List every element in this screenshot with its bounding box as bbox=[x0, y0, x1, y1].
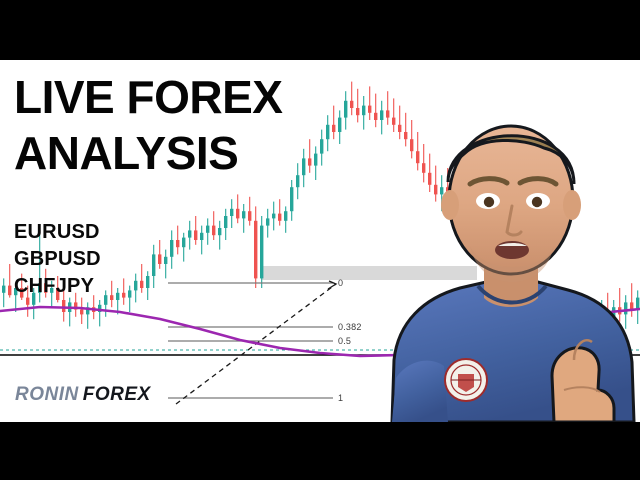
fib-label-1: 1 bbox=[338, 393, 343, 403]
pair-chfjpy: CHFJPY bbox=[14, 273, 101, 300]
candle-body bbox=[110, 295, 113, 300]
candle-body bbox=[476, 221, 479, 231]
candle-body bbox=[344, 101, 347, 118]
supply-zone bbox=[262, 266, 477, 280]
candle-body bbox=[636, 298, 639, 310]
moving-average-line bbox=[0, 307, 640, 356]
candle-body bbox=[146, 276, 149, 288]
candle-body bbox=[296, 175, 299, 187]
pair-gbpusd: GBPUSD bbox=[14, 246, 101, 273]
candle-body bbox=[116, 293, 119, 300]
logo-word-forex: FOREX bbox=[83, 384, 151, 405]
video-canvas: 00.3820.50.6181 LIVE FOREX ANALYSIS EURU… bbox=[0, 60, 640, 422]
candle-body bbox=[206, 226, 209, 233]
candle-body bbox=[452, 197, 455, 209]
candle-body bbox=[440, 187, 443, 194]
candle-body bbox=[374, 113, 377, 120]
candle-body bbox=[488, 223, 491, 233]
candle-body bbox=[404, 132, 407, 139]
candle-body bbox=[194, 230, 197, 240]
ronin-forex-logo: RONINFOREX bbox=[15, 384, 151, 406]
candle-body bbox=[624, 302, 627, 314]
candle-body bbox=[260, 226, 263, 279]
candle-body bbox=[320, 139, 323, 153]
candle-body bbox=[446, 187, 449, 197]
candle-body bbox=[302, 158, 305, 175]
fib-label-0-5: 0.5 bbox=[338, 336, 351, 346]
candle-body bbox=[200, 233, 203, 240]
candle-body bbox=[158, 254, 161, 264]
candle-body bbox=[284, 211, 287, 221]
candle-body bbox=[362, 106, 365, 116]
candle-body bbox=[464, 202, 467, 212]
candle-body bbox=[368, 106, 371, 113]
candle-body bbox=[326, 125, 329, 139]
candle-body bbox=[380, 110, 383, 120]
candle-body bbox=[386, 110, 389, 117]
trendline-arrow bbox=[328, 281, 336, 289]
candle-body bbox=[80, 310, 83, 315]
candle-body bbox=[104, 295, 107, 305]
title-line-2: ANALYSIS bbox=[14, 125, 282, 181]
candle-body bbox=[230, 209, 233, 216]
candle-body bbox=[170, 240, 173, 257]
fib-label-0-382: 0.382 bbox=[338, 322, 362, 332]
candle-body bbox=[272, 214, 275, 219]
candle-body bbox=[416, 151, 419, 163]
letterbox-bottom bbox=[0, 422, 640, 480]
candle-body bbox=[140, 281, 143, 288]
candle-body bbox=[314, 154, 317, 166]
logo-word-ronin: RONIN bbox=[15, 384, 79, 405]
candle-body bbox=[212, 226, 215, 236]
video-frame: 00.3820.50.6181 LIVE FOREX ANALYSIS EURU… bbox=[0, 0, 640, 480]
title-line-1: LIVE FOREX bbox=[14, 69, 282, 125]
candle-body bbox=[428, 173, 431, 185]
candle-body bbox=[152, 254, 155, 276]
candle-body bbox=[290, 187, 293, 211]
candle-body bbox=[612, 307, 615, 319]
candle-body bbox=[224, 216, 227, 228]
pair-eurusd: EURUSD bbox=[14, 219, 101, 246]
candle-body bbox=[188, 230, 191, 237]
candle-body bbox=[2, 286, 5, 293]
candle-body bbox=[332, 125, 335, 132]
candle-body bbox=[248, 211, 251, 221]
candle-body bbox=[182, 238, 185, 248]
candle-body bbox=[350, 101, 353, 108]
candle-body bbox=[338, 118, 341, 132]
candle-body bbox=[278, 214, 281, 221]
candle-body bbox=[422, 163, 425, 173]
currency-pair-list: EURUSD GBPUSD CHFJPY bbox=[14, 219, 101, 300]
candle-body bbox=[134, 281, 137, 291]
candle-body bbox=[470, 211, 473, 221]
candle-body bbox=[242, 211, 245, 218]
fib-label-0: 0 bbox=[338, 278, 343, 288]
page-title: LIVE FOREX ANALYSIS bbox=[14, 69, 282, 181]
candle-body bbox=[218, 228, 221, 235]
candle-body bbox=[164, 257, 167, 264]
candle-body bbox=[308, 158, 311, 165]
candle-body bbox=[398, 125, 401, 132]
candle-body bbox=[62, 300, 65, 312]
candle-body bbox=[254, 221, 257, 279]
letterbox-top bbox=[0, 0, 640, 60]
candle-body bbox=[410, 139, 413, 151]
candle-body bbox=[122, 293, 125, 298]
candle-body bbox=[434, 185, 437, 195]
candle-body bbox=[236, 209, 239, 219]
candle-body bbox=[8, 286, 11, 296]
candle-body bbox=[458, 202, 461, 209]
candle-body bbox=[356, 108, 359, 115]
candle-body bbox=[392, 118, 395, 125]
candle-body bbox=[266, 218, 269, 225]
candle-body bbox=[176, 240, 179, 247]
candle-body bbox=[128, 290, 131, 297]
candle-body bbox=[482, 223, 485, 230]
